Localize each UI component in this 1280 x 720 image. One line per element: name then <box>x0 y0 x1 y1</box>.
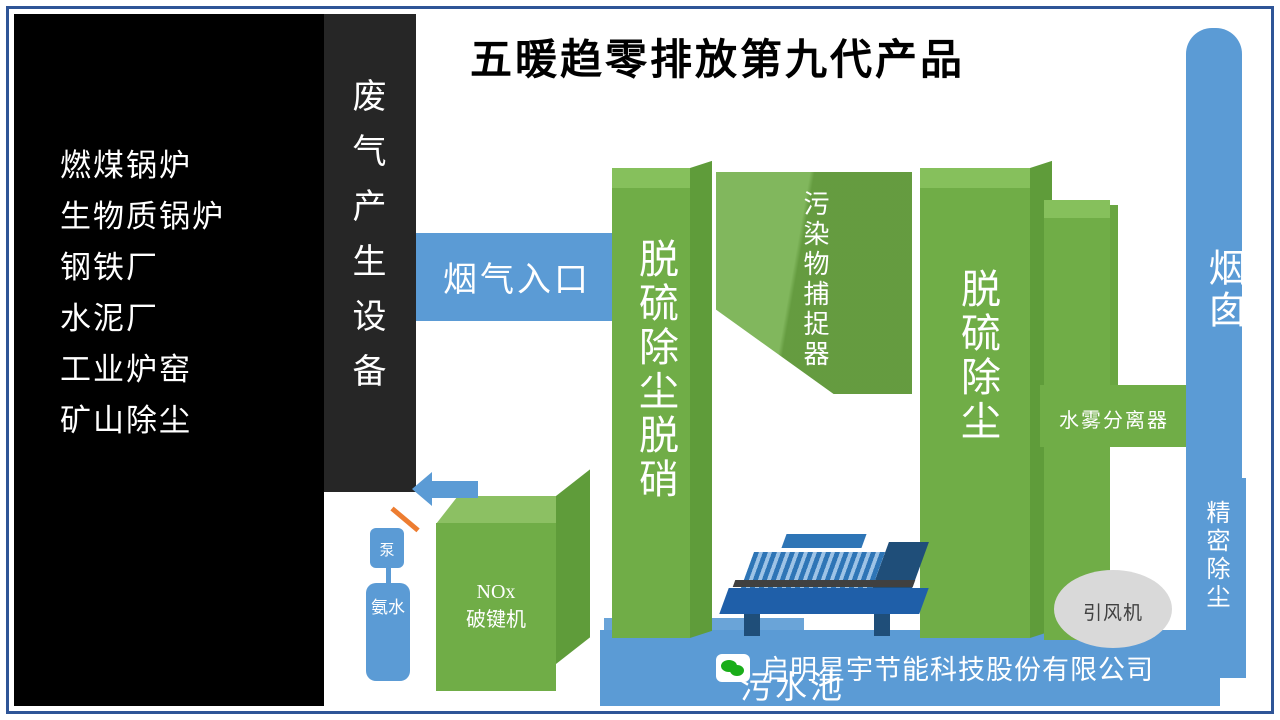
arrow-head <box>412 472 432 506</box>
list-item: 水泥厂 <box>60 293 225 344</box>
list-item: 钢铁厂 <box>60 242 225 293</box>
source-list: 燃煤锅炉 生物质锅炉 钢铁厂 水泥厂 工业炉窑 矿山除尘 <box>60 140 225 446</box>
ammonia-tank-label: 氨水 <box>366 596 410 620</box>
list-item: 生物质锅炉 <box>60 191 225 242</box>
precise-dust-removal-label: 精密除尘 <box>1198 500 1233 612</box>
flue-gas-inlet-label: 烟气入口 <box>424 252 610 301</box>
list-item: 矿山除尘 <box>60 395 225 446</box>
list-item: 燃煤锅炉 <box>60 140 225 191</box>
tower-top-face <box>612 168 690 188</box>
diagram-canvas: 燃煤锅炉 生物质锅炉 钢铁厂 水泥厂 工业炉窑 矿山除尘 废气产生设备 五暖趋零… <box>0 0 1280 720</box>
press-base <box>719 588 928 614</box>
equipment-label: 废气产生设备 <box>338 70 402 400</box>
nox-crusher-label-line1: NOx <box>436 578 556 606</box>
nox-crusher-label: NOx 破键机 <box>436 578 556 634</box>
pollutant-catcher-label: 污染物捕捉器 <box>796 190 833 370</box>
desulfur-dust-label: 脱硫除尘 <box>948 268 1006 444</box>
ammonia-pump-label: 泵 <box>370 539 404 560</box>
company-name: 启明星宇节能科技股份有限公司 <box>762 648 1154 687</box>
chimney-label: 烟囱 <box>1196 248 1251 332</box>
wechat-icon <box>716 654 750 682</box>
press-rail <box>733 580 916 587</box>
press-leg-right <box>874 614 890 636</box>
desulfur-dust-denitr-label: 脱硫除尘脱硝 <box>626 238 684 502</box>
footer-watermark: 启明星宇节能科技股份有限公司 <box>716 648 1154 687</box>
flow-arrow-icon <box>412 472 478 506</box>
arrow-shaft <box>430 481 478 498</box>
list-item: 工业炉窑 <box>60 344 225 395</box>
induced-draft-fan-label: 引风机 <box>1054 598 1172 625</box>
nox-crusher-label-line2: 破键机 <box>436 606 556 634</box>
press-leg-left <box>744 614 760 636</box>
filter-press-machine <box>724 530 924 636</box>
nox-crusher-side-face <box>556 469 590 664</box>
press-top-beam <box>781 534 866 548</box>
tower-top-face <box>920 168 1030 188</box>
mist-separator-label: 水雾分离器 <box>1040 404 1188 433</box>
page-title: 五暖趋零排放第九代产品 <box>470 26 965 87</box>
riser-top-face <box>1044 200 1110 218</box>
tower-side-face <box>690 161 712 638</box>
